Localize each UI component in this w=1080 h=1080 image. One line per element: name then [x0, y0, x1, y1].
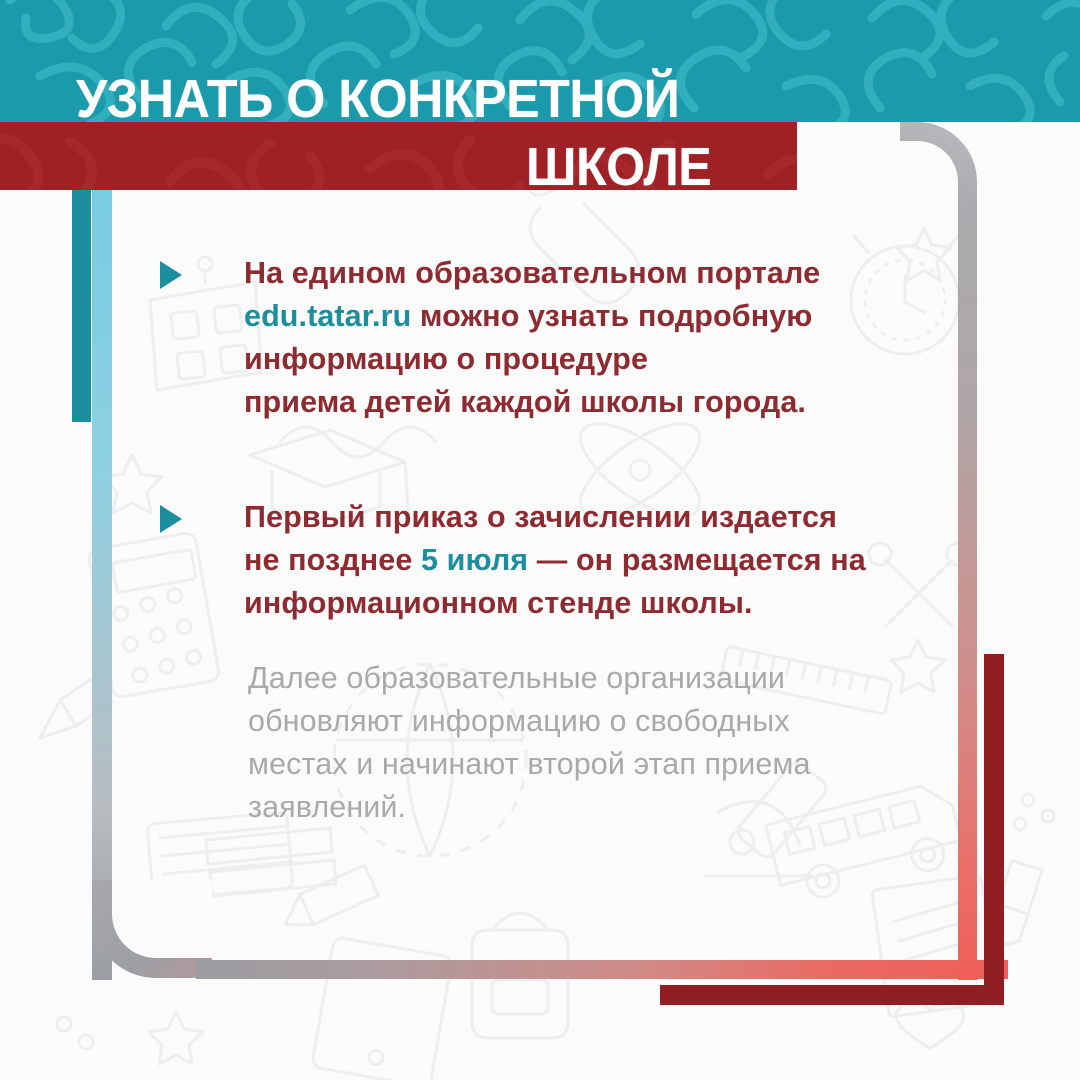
bullet-2-text: Первый приказ о зачислении издается не п… [244, 496, 866, 625]
bullet-1-text: На едином образовательном портале edu.ta… [244, 252, 820, 424]
content-area: На едином образовательном портале edu.ta… [0, 0, 1080, 1080]
note-paragraph: Далее образовательные организации обновл… [248, 657, 928, 829]
bullet-item-1: На едином образовательном портале edu.ta… [160, 252, 820, 424]
triangle-right-icon [160, 505, 182, 533]
accent-text: edu.tatar.ru [244, 299, 411, 333]
accent-text: 5 июля [421, 543, 528, 577]
body-text: На едином образовательном портале [244, 256, 820, 290]
bullet-item-2: Первый приказ о зачислении издается не п… [160, 496, 866, 625]
triangle-right-icon [160, 261, 182, 289]
infographic-poster: УЗНАТЬ О КОНКРЕТНОЙ ШКОЛЕ На едином обра… [0, 0, 1080, 1080]
